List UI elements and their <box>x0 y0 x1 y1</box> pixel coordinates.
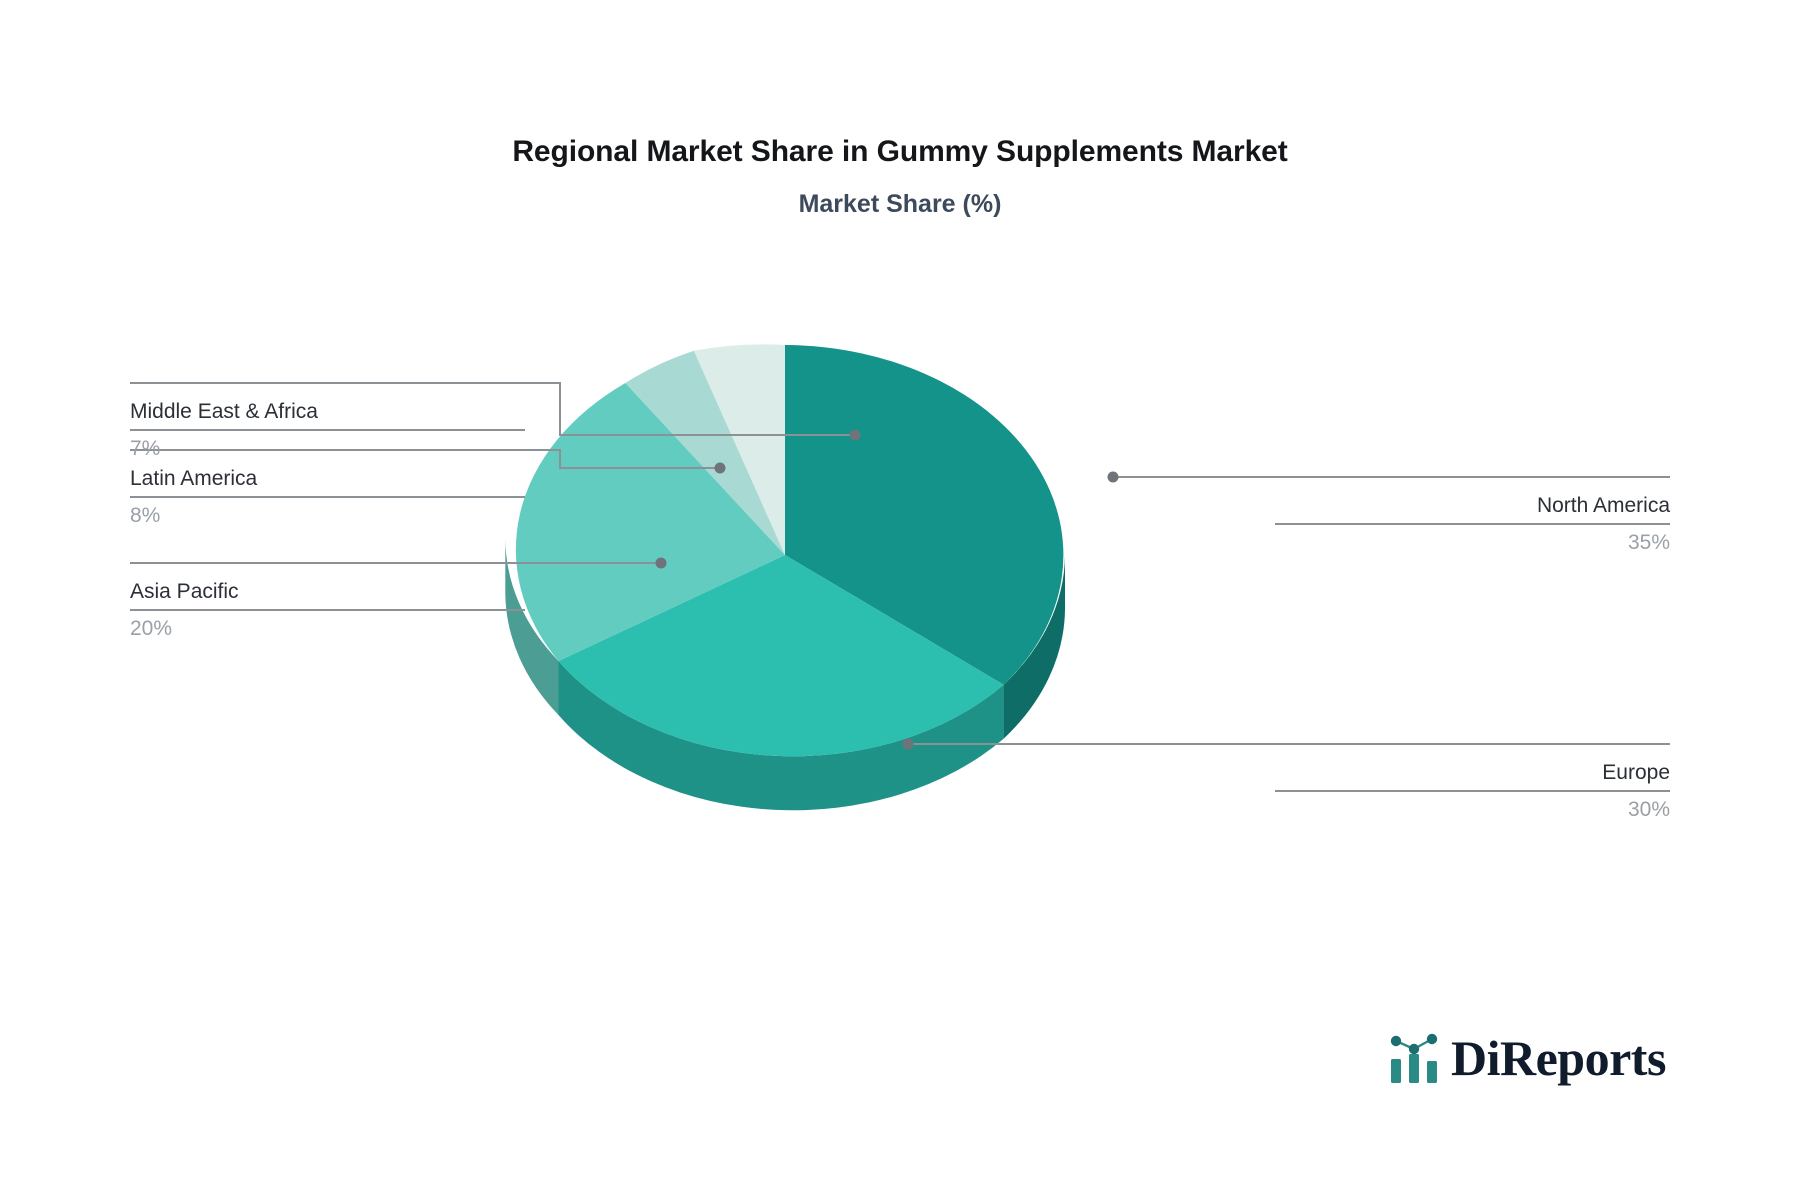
callout-label-middle-east-africa: Middle East & Africa <box>130 398 525 426</box>
callout-rule-north-america <box>1275 523 1670 525</box>
callout-middle-east-africa: Middle East & Africa 7% <box>130 398 525 463</box>
leader-dot-europe <box>903 739 914 750</box>
callout-rule-europe <box>1275 790 1670 792</box>
leader-dot-asia-pacific <box>656 558 667 569</box>
callout-label-north-america: North America <box>1275 492 1670 520</box>
leader-dot-middle-east-africa <box>850 430 861 441</box>
callout-label-asia-pacific: Asia Pacific <box>130 578 525 606</box>
leader-dot-latin-america <box>715 463 726 474</box>
callout-value-north-america: 35% <box>1275 529 1670 557</box>
callout-value-latin-america: 8% <box>130 502 525 530</box>
callout-rule-latin-america <box>130 496 525 498</box>
callout-europe: Europe 30% <box>1275 759 1670 824</box>
callout-asia-pacific: Asia Pacific 20% <box>130 578 525 643</box>
leader-dot-north-america <box>1108 472 1119 483</box>
brand-logo: DiReports <box>1387 1030 1666 1086</box>
chart-canvas: Regional Market Share in Gummy Supplemen… <box>0 0 1800 1196</box>
callout-rule-middle-east-africa <box>130 429 525 431</box>
brand-name: DiReports <box>1451 1033 1666 1083</box>
callout-rule-asia-pacific <box>130 609 525 611</box>
callout-north-america: North America 35% <box>1275 492 1670 557</box>
callout-value-asia-pacific: 20% <box>130 615 525 643</box>
bar-chart-logo-icon <box>1387 1030 1441 1086</box>
callout-latin-america: Latin America 8% <box>130 465 525 530</box>
callout-value-middle-east-africa: 7% <box>130 435 525 463</box>
callout-label-latin-america: Latin America <box>130 465 525 493</box>
pie-top-face <box>516 344 1064 756</box>
callout-label-europe: Europe <box>1275 759 1670 787</box>
callout-value-europe: 30% <box>1275 796 1670 824</box>
